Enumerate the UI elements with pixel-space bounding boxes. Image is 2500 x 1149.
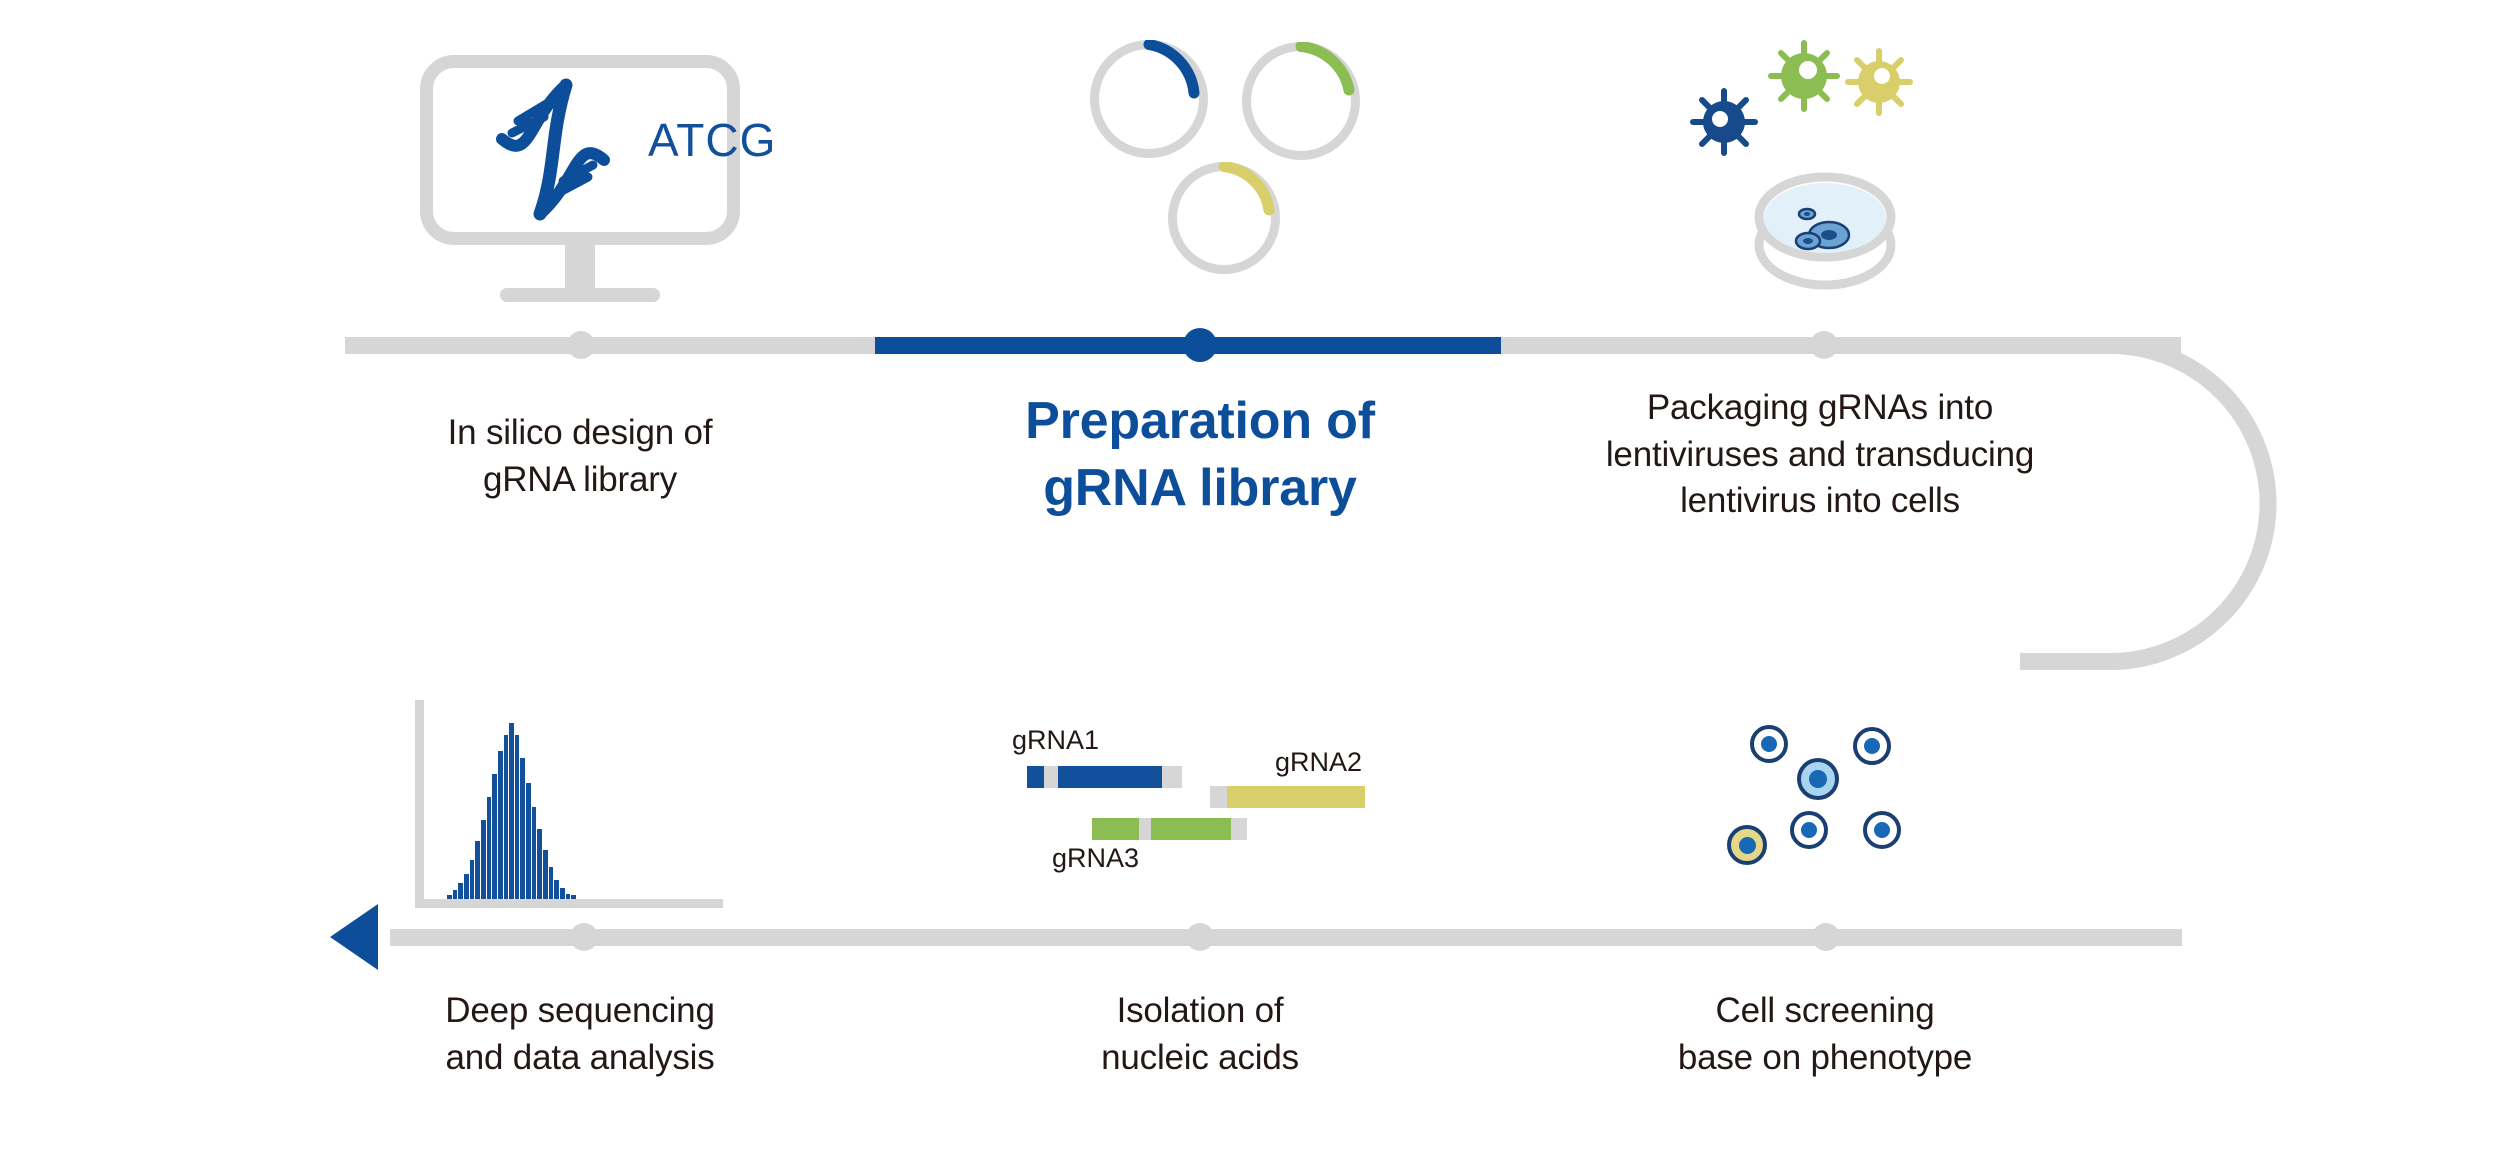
cell-highlighted-yellow [1727,825,1767,865]
cell-unselected-1 [1750,725,1788,763]
step-label-packaging: Packaging gRNAs into lentiviruses and tr… [1540,385,2100,525]
virus-yellow [1845,48,1913,116]
timeline-node-preparation[interactable] [1183,328,1217,362]
grna-bars-icon: gRNA1 gRNA2 gRNA3 [1000,725,1400,855]
timeline-node-cell-screening[interactable] [1812,923,1840,951]
step-label-line-2: base on phenotype [1575,1035,2075,1082]
cell-nucleus [1864,738,1880,754]
timeline-track-bottom[interactable] [390,929,2182,946]
step-label-isolation: Isolation of nucleic acids [950,988,1450,1081]
plasmid-icon-group [1090,40,1410,290]
histogram-y-axis [415,700,424,908]
step-label-line-3: lentivirus into cells [1540,478,2100,525]
timeline-node-packaging[interactable] [1810,331,1838,359]
step-label-preparation: Preparation of gRNA library [950,388,1450,521]
histogram-icon [415,700,735,915]
grna1-gap-a [1044,766,1058,788]
cell-nucleus [1874,822,1890,838]
step-label-line-2: gRNA library [330,457,830,504]
step-label-line-1: Preparation of [950,388,1450,455]
timeline-track-top-left[interactable] [345,337,877,354]
grna1-segment-a [1027,766,1044,788]
cell-nucleus [1809,770,1827,788]
plasmid-yellow [1168,162,1280,274]
grna3-segment-b [1151,818,1232,840]
step-label-cell-screening: Cell screening base on phenotype [1575,988,2075,1081]
grna1-gap-b [1162,766,1182,788]
cell-unselected-3 [1790,811,1828,849]
step-label-line-1: In silico design of [330,410,830,457]
cell-unselected-2 [1853,727,1891,765]
histogram-bars [447,714,577,899]
step-label-deep-sequencing: Deep sequencing and data analysis [330,988,830,1081]
grna3-bar [1092,818,1247,840]
monitor-screen-text: ATCG [648,113,776,167]
cells-icon [1735,725,1915,865]
timeline-arrow-left-icon [330,904,378,970]
grna3-segment-a [1092,818,1139,840]
timeline-node-in-silico-design[interactable] [567,331,595,359]
plasmid-green [1242,42,1360,160]
cell-nucleus [1761,736,1777,752]
monitor-neck [565,245,595,290]
cell-nucleus [1739,837,1756,854]
grna2-bar [1210,786,1365,808]
timeline-node-isolation[interactable] [1186,923,1214,951]
cell-unselected-4 [1863,811,1901,849]
dna-helix-icon [488,77,618,222]
virus-green [1768,40,1840,112]
grna1-bar [1027,766,1182,788]
grna3-gap-a [1139,818,1151,840]
petri-dish-icon [1750,145,1900,295]
cell-highlighted-blue [1797,758,1839,800]
grna2-label: gRNA2 [1275,747,1362,778]
step-label-in-silico-design: In silico design of gRNA library [330,410,830,503]
step-label-line-2: lentiviruses and transducing [1540,432,2100,479]
grna1-label: gRNA1 [1012,725,1099,756]
step-label-line-1: Isolation of [950,988,1450,1035]
step-label-line-2: gRNA library [950,455,1450,522]
grna1-segment-b [1058,766,1162,788]
plasmid-blue [1090,40,1208,158]
virus-petri-icon [1690,40,2020,310]
histogram-x-axis [415,899,723,908]
monitor-base [500,288,660,302]
cell-nucleus [1801,822,1817,838]
grna3-label: gRNA3 [1052,843,1139,874]
step-label-line-2: and data analysis [330,1035,830,1082]
histogram-bar [571,895,577,899]
grna2-segment-a [1227,786,1365,808]
monitor-dna-icon: ATCG [420,55,780,305]
grna2-gap-a [1210,786,1227,808]
step-label-line-1: Cell screening [1575,988,2075,1035]
timeline-node-deep-sequencing[interactable] [570,923,598,951]
step-label-line-2: nucleic acids [950,1035,1450,1082]
grna3-gap-b [1231,818,1247,840]
crispr-workflow-diagram: ATCG [0,0,2500,1149]
virus-navy [1690,88,1758,156]
step-label-line-1: Deep sequencing [330,988,830,1035]
step-label-line-1: Packaging gRNAs into [1540,385,2100,432]
